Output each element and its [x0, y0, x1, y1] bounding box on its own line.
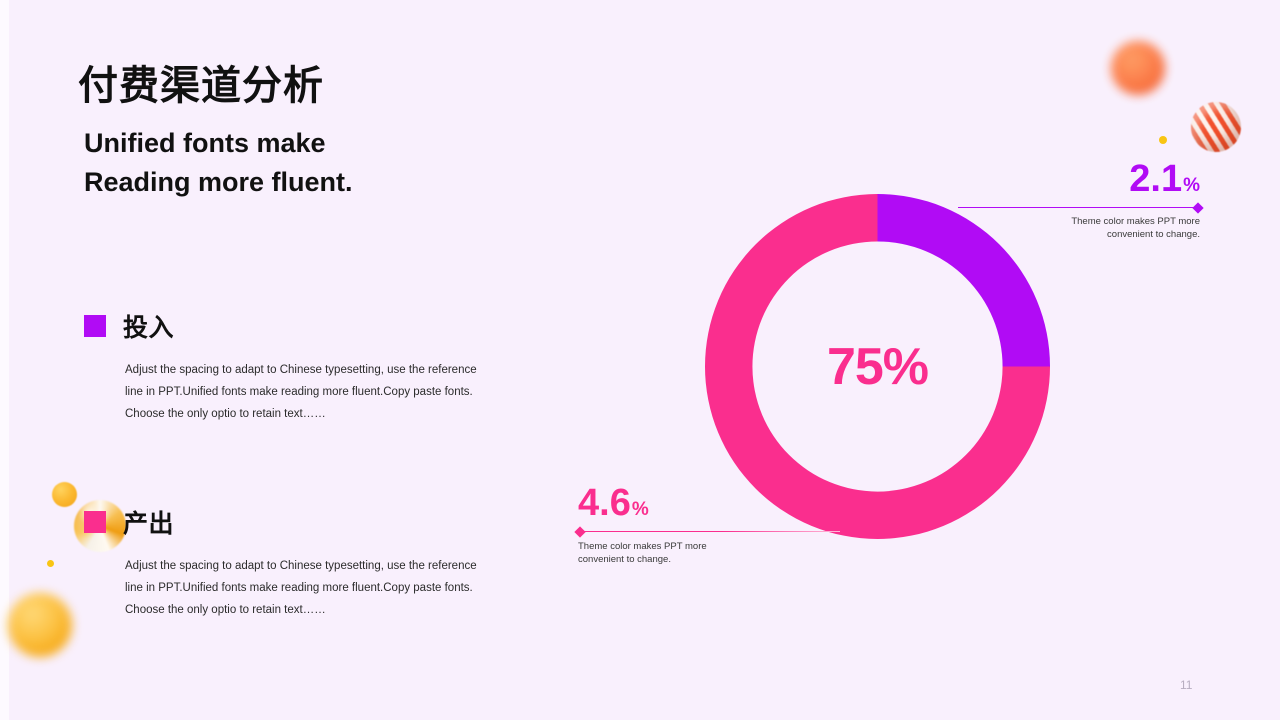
page-subtitle: Unified fonts make Reading more fluent. — [84, 124, 353, 202]
striped-red-sphere-icon — [1191, 102, 1241, 152]
callout-bottom-left-unit: % — [632, 499, 649, 520]
section-input-label: 投入 — [123, 308, 174, 344]
section-output: 产出 Adjust the spacing to adapt to Chines… — [84, 504, 504, 621]
page-number: 11 — [1180, 678, 1192, 692]
left-edge-band — [0, 0, 9, 720]
callout-top-right: 2.1% Theme color makes PPT more convenie… — [958, 160, 1200, 241]
callout-top-right-number: 2.1 — [1129, 158, 1182, 200]
section-output-label: 产出 — [123, 504, 174, 540]
callout-bottom-left: 4.6% Theme color makes PPT more convenie… — [578, 484, 840, 566]
square-bullet-icon — [84, 315, 106, 337]
section-output-header: 产出 — [84, 504, 504, 540]
diamond-marker-icon — [574, 526, 585, 537]
yellow-dot-top-right-icon — [1159, 136, 1167, 144]
section-input: 投入 Adjust the spacing to adapt to Chines… — [84, 308, 504, 425]
callout-top-right-rule — [958, 207, 1200, 208]
diamond-marker-icon — [1192, 202, 1203, 213]
square-bullet-icon — [84, 511, 106, 533]
callout-top-right-value: 2.1% — [958, 160, 1200, 198]
callout-top-right-unit: % — [1183, 175, 1200, 196]
callout-top-right-caption: Theme color makes PPT more convenient to… — [958, 215, 1200, 241]
callout-bottom-left-value: 4.6% — [578, 484, 840, 522]
gold-small-sphere-icon — [52, 482, 77, 507]
slide-canvas: 付费渠道分析 Unified fonts make Reading more f… — [0, 0, 1280, 720]
gold-big-blur-sphere-icon — [8, 593, 72, 657]
callout-bottom-left-number: 4.6 — [578, 482, 631, 524]
yellow-dot-bottom-left-icon — [47, 560, 54, 567]
section-output-body: Adjust the spacing to adapt to Chinese t… — [125, 555, 500, 621]
section-input-header: 投入 — [84, 308, 504, 344]
page-title: 付费渠道分析 — [78, 53, 324, 111]
callout-bottom-left-rule — [578, 531, 840, 532]
orange-blur-sphere-icon — [1111, 41, 1165, 95]
section-input-body: Adjust the spacing to adapt to Chinese t… — [125, 359, 500, 425]
callout-bottom-left-caption: Theme color makes PPT more convenient to… — [578, 540, 840, 566]
